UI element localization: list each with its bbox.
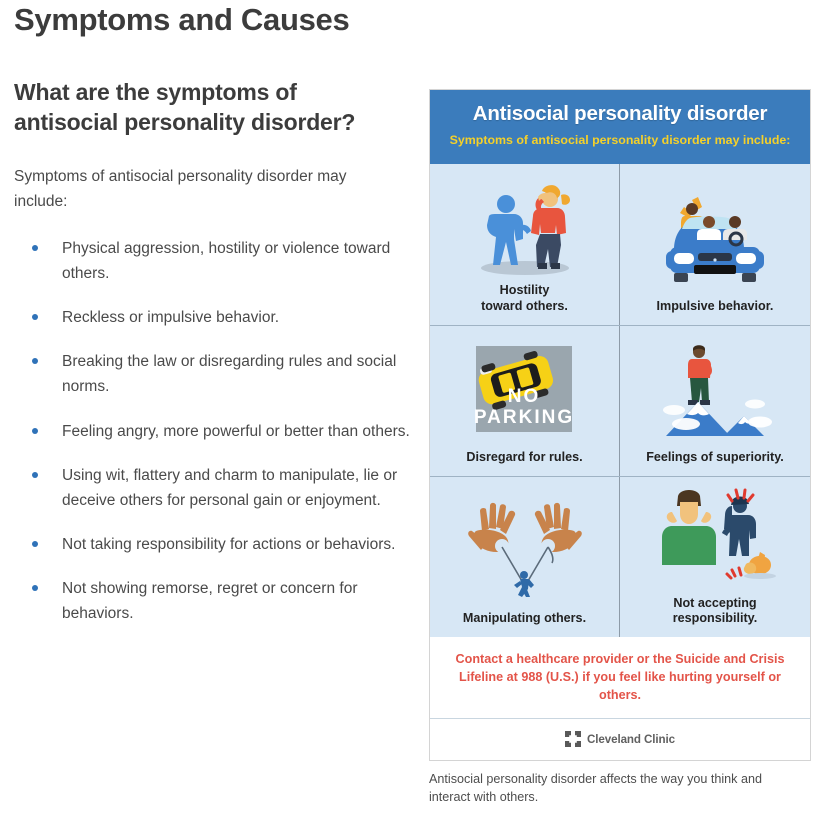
section-heading: What are the symptoms of antisocial pers… xyxy=(14,39,406,138)
list-item-text: Breaking the law or disregarding rules a… xyxy=(62,353,396,395)
list-item: Not taking responsibility for actions or… xyxy=(14,532,426,557)
infographic-header: Antisocial personality disorder Symptoms… xyxy=(430,90,810,164)
car-with-passengers-icon xyxy=(652,189,778,293)
article-page: Symptoms and Causes What are the symptom… xyxy=(0,0,824,840)
symptom-cell-label: Hostilitytoward others. xyxy=(481,283,568,313)
bullet-dot-icon xyxy=(32,428,38,434)
symptom-cell-superiority: Feelings of superiority. xyxy=(620,326,810,476)
no-parking-taxi-icon: NO PARKING xyxy=(462,340,588,444)
symptom-cell-label: Impulsive behavior. xyxy=(657,299,774,314)
symptom-cell-manipulating: Manipulating others. xyxy=(430,477,620,637)
symptom-grid-row: Manipulating others. xyxy=(430,476,810,637)
list-item: Not showing remorse, regret or concern f… xyxy=(14,576,426,626)
symptom-cell-impulsive: Impulsive behavior. xyxy=(620,164,810,324)
infographic-figure: Antisocial personality disorder Symptoms… xyxy=(429,89,811,807)
two-people-arguing-icon xyxy=(462,173,588,277)
brand-logo: Cleveland Clinic xyxy=(430,718,810,760)
symptom-list: Physical aggression, hostility or violen… xyxy=(14,214,426,626)
bullet-dot-icon xyxy=(32,314,38,320)
symptom-cell-label: Not acceptingresponsibility. xyxy=(673,596,757,626)
figure-caption: Antisocial personality disorder affects … xyxy=(429,761,799,807)
symptom-grid-row: Hostilitytoward others. xyxy=(430,164,810,324)
infographic-crisis-note: Contact a healthcare provider or the Sui… xyxy=(430,637,810,719)
infographic-title: Antisocial personality disorder xyxy=(446,103,794,126)
list-item: Reckless or impulsive behavior. xyxy=(14,305,426,330)
list-item-text: Not showing remorse, regret or concern f… xyxy=(62,580,357,622)
list-item: Breaking the law or disregarding rules a… xyxy=(14,349,426,399)
list-item-text: Feeling angry, more powerful or better t… xyxy=(62,423,410,440)
brand-name: Cleveland Clinic xyxy=(587,733,675,746)
symptom-grid: Hostilitytoward others. xyxy=(430,164,810,636)
bullet-dot-icon xyxy=(32,245,38,251)
no-parking-line1: NO xyxy=(507,386,540,407)
covering-ears-icon xyxy=(652,486,778,590)
symptom-cell-responsibility: Not acceptingresponsibility. xyxy=(620,477,810,637)
infographic-card: Antisocial personality disorder Symptoms… xyxy=(429,89,811,761)
infographic-subtitle: Symptoms of antisocial personality disor… xyxy=(446,133,794,149)
cleveland-clinic-logo-icon xyxy=(565,731,581,747)
crisis-note-text: Contact a healthcare provider or the Sui… xyxy=(454,651,786,705)
article-text-column: Symptoms and Causes What are the symptom… xyxy=(14,0,426,645)
list-item-text: Reckless or impulsive behavior. xyxy=(62,309,279,326)
intro-paragraph: Symptoms of antisocial personality disor… xyxy=(14,138,404,214)
list-item-text: Not taking responsibility for actions or… xyxy=(62,536,395,553)
list-item-text: Using wit, flattery and charm to manipul… xyxy=(62,467,397,509)
symptom-cell-label: Manipulating others. xyxy=(463,611,586,626)
list-item: Feeling angry, more powerful or better t… xyxy=(14,419,426,444)
list-item: Physical aggression, hostility or violen… xyxy=(14,236,426,286)
bullet-dot-icon xyxy=(32,472,38,478)
page-title: Symptoms and Causes xyxy=(14,0,426,39)
puppeteer-hands-icon xyxy=(462,501,588,605)
symptom-grid-row: NO PARKING Disregard for rules. xyxy=(430,325,810,476)
bullet-dot-icon xyxy=(32,541,38,547)
symptom-cell-disregard: NO PARKING Disregard for rules. xyxy=(430,326,620,476)
person-on-mountain-icon xyxy=(652,340,778,444)
list-item-text: Physical aggression, hostility or violen… xyxy=(62,240,390,282)
list-item: Using wit, flattery and charm to manipul… xyxy=(14,463,426,513)
symptom-cell-label: Disregard for rules. xyxy=(466,450,582,465)
bullet-dot-icon xyxy=(32,358,38,364)
symptom-cell-label: Feelings of superiority. xyxy=(646,450,784,465)
symptom-cell-hostility: Hostilitytoward others. xyxy=(430,164,620,324)
no-parking-line2: PARKING xyxy=(473,407,573,428)
bullet-dot-icon xyxy=(32,585,38,591)
